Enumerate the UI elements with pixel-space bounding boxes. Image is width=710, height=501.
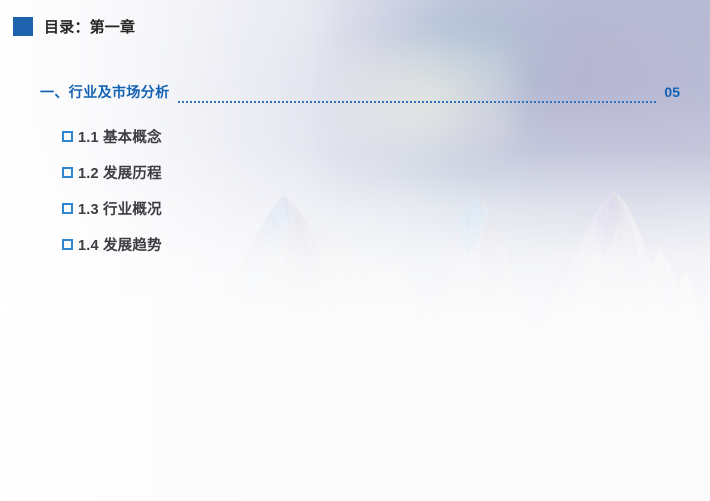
toc-item-1-4[interactable]: 1.4 发展趋势 [0,226,710,262]
table-of-contents: 一、行业及市场分析 05 1.1 基本概念 1.2 发展历程 1.3 行业概况 … [0,82,710,262]
toc-item-1-1[interactable]: 1.1 基本概念 [0,118,710,154]
toc-chapter-page-number: 05 [664,84,680,100]
blue-square-marker-icon [13,17,33,36]
page-title: 目录：第一章 [44,16,135,37]
toc-item-list: 1.1 基本概念 1.2 发展历程 1.3 行业概况 1.4 发展趋势 [0,118,710,262]
slide-header: 目录：第一章 [13,16,135,37]
toc-chapter-label: 一、行业及市场分析 [40,82,170,102]
hollow-square-bullet-icon [62,131,73,142]
hollow-square-bullet-icon [62,203,73,214]
hollow-square-bullet-icon [62,167,73,178]
toc-item-1-2[interactable]: 1.2 发展历程 [0,154,710,190]
toc-item-label: 1.4 发展趋势 [78,234,162,255]
slide-canvas: 目录：第一章 一、行业及市场分析 05 1.1 基本概念 1.2 发展历程 1.… [0,0,710,501]
toc-chapter-row[interactable]: 一、行业及市场分析 05 [0,82,710,106]
hollow-square-bullet-icon [62,239,73,250]
toc-dotted-leader [178,92,658,106]
toc-item-1-3[interactable]: 1.3 行业概况 [0,190,710,226]
toc-item-label: 1.3 行业概况 [78,198,162,219]
toc-item-label: 1.2 发展历程 [78,162,162,183]
toc-item-label: 1.1 基本概念 [78,126,162,147]
